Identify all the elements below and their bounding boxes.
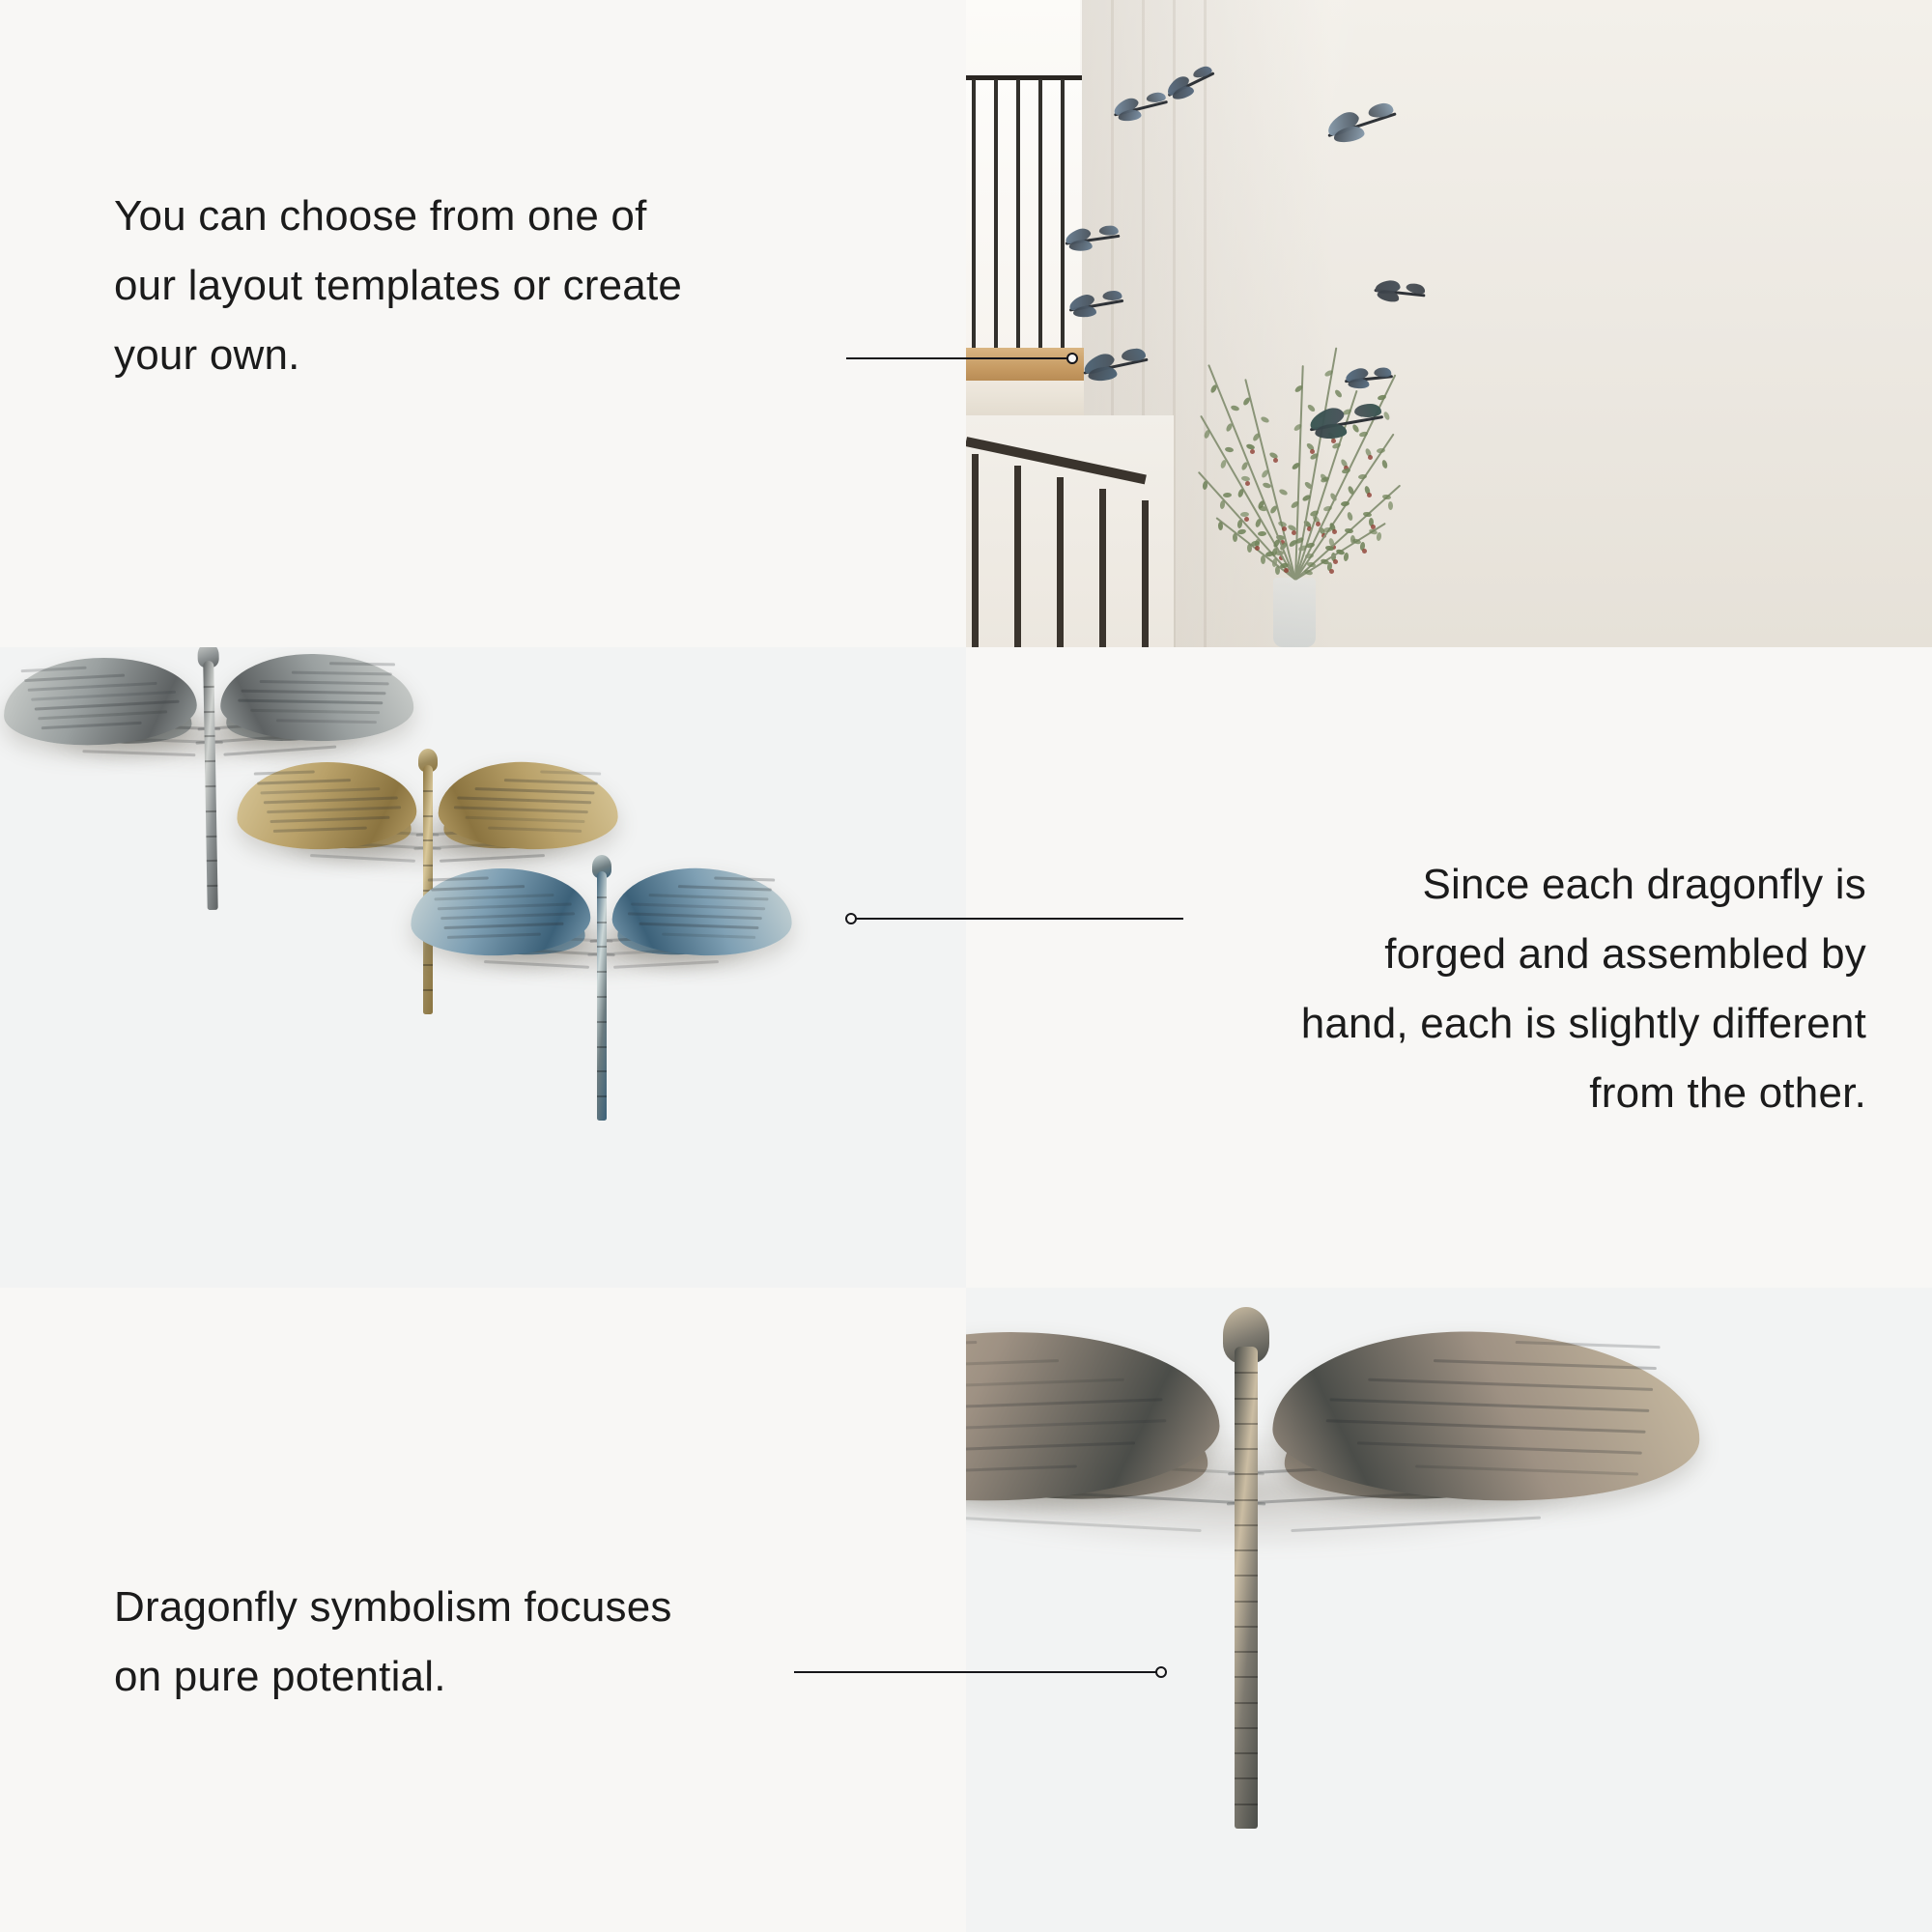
wing-vein bbox=[428, 876, 489, 881]
body-segment bbox=[204, 711, 214, 713]
wing-vein bbox=[329, 662, 395, 666]
wing-vein bbox=[714, 876, 775, 881]
wing-vein bbox=[966, 1359, 1059, 1370]
wing-vein bbox=[631, 902, 765, 910]
body-segment bbox=[206, 836, 216, 838]
wing-vein bbox=[488, 827, 582, 833]
body-segment bbox=[1235, 1524, 1258, 1526]
stair-railing-top bbox=[966, 75, 1082, 80]
forged-dragonfly bbox=[411, 855, 792, 1145]
caption-line: our layout templates or create bbox=[114, 251, 682, 321]
wing-vein bbox=[639, 923, 758, 929]
wing-vein bbox=[457, 796, 591, 804]
body-segment bbox=[423, 815, 433, 817]
connector-rule bbox=[847, 918, 1183, 920]
wing-vein bbox=[241, 690, 385, 696]
wing-vein bbox=[662, 933, 755, 939]
body-segment bbox=[1235, 1676, 1258, 1678]
body-segment bbox=[206, 860, 216, 862]
body-segment bbox=[423, 839, 433, 841]
wing-vein bbox=[264, 796, 398, 804]
body-segment bbox=[597, 971, 607, 973]
body-segment bbox=[597, 996, 607, 998]
wing-vein bbox=[42, 722, 142, 729]
wing-vein bbox=[438, 902, 572, 910]
body-segment bbox=[1235, 1499, 1258, 1501]
body-segment bbox=[597, 922, 607, 923]
caption-line: from the other. bbox=[1301, 1059, 1866, 1128]
berry bbox=[1284, 568, 1289, 573]
caption-handmade-variation: Since each dragonfly is forged and assem… bbox=[1301, 850, 1866, 1128]
connector-endpoint-dot bbox=[845, 913, 857, 924]
wing-vein bbox=[540, 770, 601, 775]
caption-line: your own. bbox=[114, 321, 682, 390]
wing-vein bbox=[270, 816, 389, 823]
berry bbox=[1333, 559, 1338, 564]
stair-riser bbox=[966, 381, 1084, 415]
wing-vein bbox=[678, 885, 772, 891]
wing-vein bbox=[38, 710, 167, 720]
body-segment bbox=[1235, 1372, 1258, 1374]
connector-line-1 bbox=[846, 352, 1076, 365]
connector-rule bbox=[846, 357, 1076, 359]
wing-vein bbox=[440, 912, 575, 920]
wing-vein bbox=[1357, 1441, 1642, 1454]
wall-dragonfly bbox=[1371, 275, 1430, 310]
wing-vein bbox=[260, 787, 380, 794]
body-segment bbox=[1235, 1804, 1258, 1805]
wing-vein bbox=[292, 671, 392, 676]
dragonfly-wing-upper-right bbox=[1354, 404, 1381, 417]
body-segment bbox=[1235, 1423, 1258, 1425]
wing-vein bbox=[21, 667, 87, 673]
body-segment bbox=[597, 946, 607, 948]
connector-line-2 bbox=[847, 912, 1183, 925]
leaf bbox=[1240, 512, 1249, 517]
dragonfly-wing-lower-left bbox=[1348, 379, 1369, 389]
dragonfly-wing-upper-right bbox=[1099, 225, 1119, 236]
body-segment bbox=[1235, 1398, 1258, 1400]
wing-vein bbox=[966, 1378, 1124, 1391]
wing-vein bbox=[1329, 1398, 1649, 1412]
body-segment bbox=[597, 1046, 607, 1048]
body-segment bbox=[1235, 1601, 1258, 1603]
wing-vein bbox=[434, 894, 554, 900]
wing-vein bbox=[1516, 1341, 1661, 1349]
berry bbox=[1244, 517, 1249, 522]
wing-vein bbox=[267, 806, 401, 813]
body-segment bbox=[207, 885, 217, 887]
dragonfly-body bbox=[1235, 1347, 1258, 1829]
wing-vein bbox=[1368, 1378, 1653, 1391]
wing-vein bbox=[431, 885, 525, 891]
body-segment bbox=[205, 760, 215, 762]
wall-dragonfly bbox=[1342, 362, 1397, 394]
berry bbox=[1282, 526, 1287, 531]
connector-endpoint-dot bbox=[1066, 353, 1078, 364]
wing-vein bbox=[649, 894, 769, 900]
wing-vein bbox=[31, 691, 176, 701]
body-segment bbox=[203, 686, 213, 688]
leaf bbox=[1223, 493, 1232, 497]
caption-line: You can choose from one of bbox=[114, 182, 682, 251]
wing-vein bbox=[465, 816, 584, 823]
caption-line: hand, each is slightly different bbox=[1301, 989, 1866, 1059]
body-segment bbox=[1235, 1448, 1258, 1450]
dragonfly-wing-upper-right bbox=[1103, 291, 1122, 300]
wing-vein bbox=[1326, 1419, 1646, 1434]
wing-vein bbox=[250, 709, 380, 714]
wing-vein bbox=[447, 933, 541, 939]
caption-layout-templates: You can choose from one of our layout te… bbox=[114, 182, 682, 390]
body-segment bbox=[597, 896, 607, 898]
wing-vein bbox=[260, 680, 389, 685]
wing-upper-right bbox=[220, 652, 415, 742]
wing-vein bbox=[475, 787, 595, 794]
caption-line: Dragonfly symbolism focuses bbox=[114, 1573, 672, 1642]
leaf bbox=[1258, 531, 1266, 536]
wing-vein bbox=[966, 1419, 1166, 1434]
large-forged-dragonfly bbox=[966, 1288, 1932, 1932]
dragonfly-body bbox=[597, 871, 607, 1121]
body-segment bbox=[1235, 1777, 1258, 1779]
body-segment bbox=[597, 1095, 607, 1097]
body-segment bbox=[1235, 1727, 1258, 1729]
body-segment bbox=[597, 1021, 607, 1023]
body-segment bbox=[1235, 1549, 1258, 1551]
forged-dragonfly bbox=[966, 1307, 1700, 1867]
wing-vein bbox=[966, 1441, 1135, 1454]
caption-line: Since each dragonfly is bbox=[1301, 850, 1866, 920]
body-segment bbox=[1235, 1651, 1258, 1653]
wing-vein bbox=[1415, 1464, 1638, 1475]
body-segment bbox=[1235, 1752, 1258, 1754]
wing-vein bbox=[276, 719, 377, 724]
body-segment bbox=[1235, 1626, 1258, 1628]
wing-vein bbox=[443, 923, 563, 929]
caption-line: on pure potential. bbox=[114, 1642, 672, 1712]
dragonfly-wing-lower-left bbox=[1069, 241, 1093, 251]
caption-line: forged and assembled by bbox=[1301, 920, 1866, 989]
wing-vein bbox=[628, 912, 762, 920]
wing-vein bbox=[1434, 1359, 1657, 1370]
dragonfly-wing-lower-left bbox=[1073, 306, 1096, 318]
wing-vein bbox=[257, 779, 351, 784]
body-segment bbox=[1235, 1575, 1258, 1577]
caption-symbolism: Dragonfly symbolism focuses on pure pote… bbox=[114, 1573, 672, 1712]
body-segment bbox=[204, 735, 214, 737]
leaf bbox=[1233, 533, 1237, 542]
wing-vein bbox=[254, 770, 315, 775]
wing-vein bbox=[28, 682, 157, 692]
glass-vase bbox=[1273, 578, 1316, 647]
wing-vein bbox=[966, 1464, 1077, 1475]
wing-vein bbox=[504, 779, 598, 784]
body-segment bbox=[1235, 1473, 1258, 1475]
body-segment bbox=[597, 1070, 607, 1072]
body-segment bbox=[423, 790, 433, 792]
connector-endpoint-dot bbox=[1155, 1666, 1167, 1678]
dragonfly-body bbox=[203, 661, 218, 910]
leaf bbox=[1388, 501, 1393, 510]
berry bbox=[1332, 529, 1337, 534]
stair-railing-frame bbox=[966, 75, 1082, 355]
wing-vein bbox=[966, 1398, 1163, 1412]
page-root: You can choose from one of our layout te… bbox=[0, 0, 1932, 1932]
body-segment bbox=[205, 785, 215, 787]
connector-line-3 bbox=[794, 1665, 1165, 1679]
body-segment bbox=[1235, 1702, 1258, 1704]
wing-vein bbox=[966, 1341, 977, 1349]
wing-vein bbox=[24, 674, 125, 682]
connector-rule bbox=[794, 1671, 1165, 1673]
wing-vein bbox=[273, 827, 367, 833]
three-forged-dragonflies bbox=[0, 647, 966, 1288]
body-segment bbox=[205, 810, 215, 812]
wing-vein bbox=[454, 806, 588, 813]
hallway-dragonfly-wall-photo bbox=[966, 0, 1932, 647]
wing-vein bbox=[35, 700, 180, 711]
wing-vein bbox=[238, 699, 383, 705]
